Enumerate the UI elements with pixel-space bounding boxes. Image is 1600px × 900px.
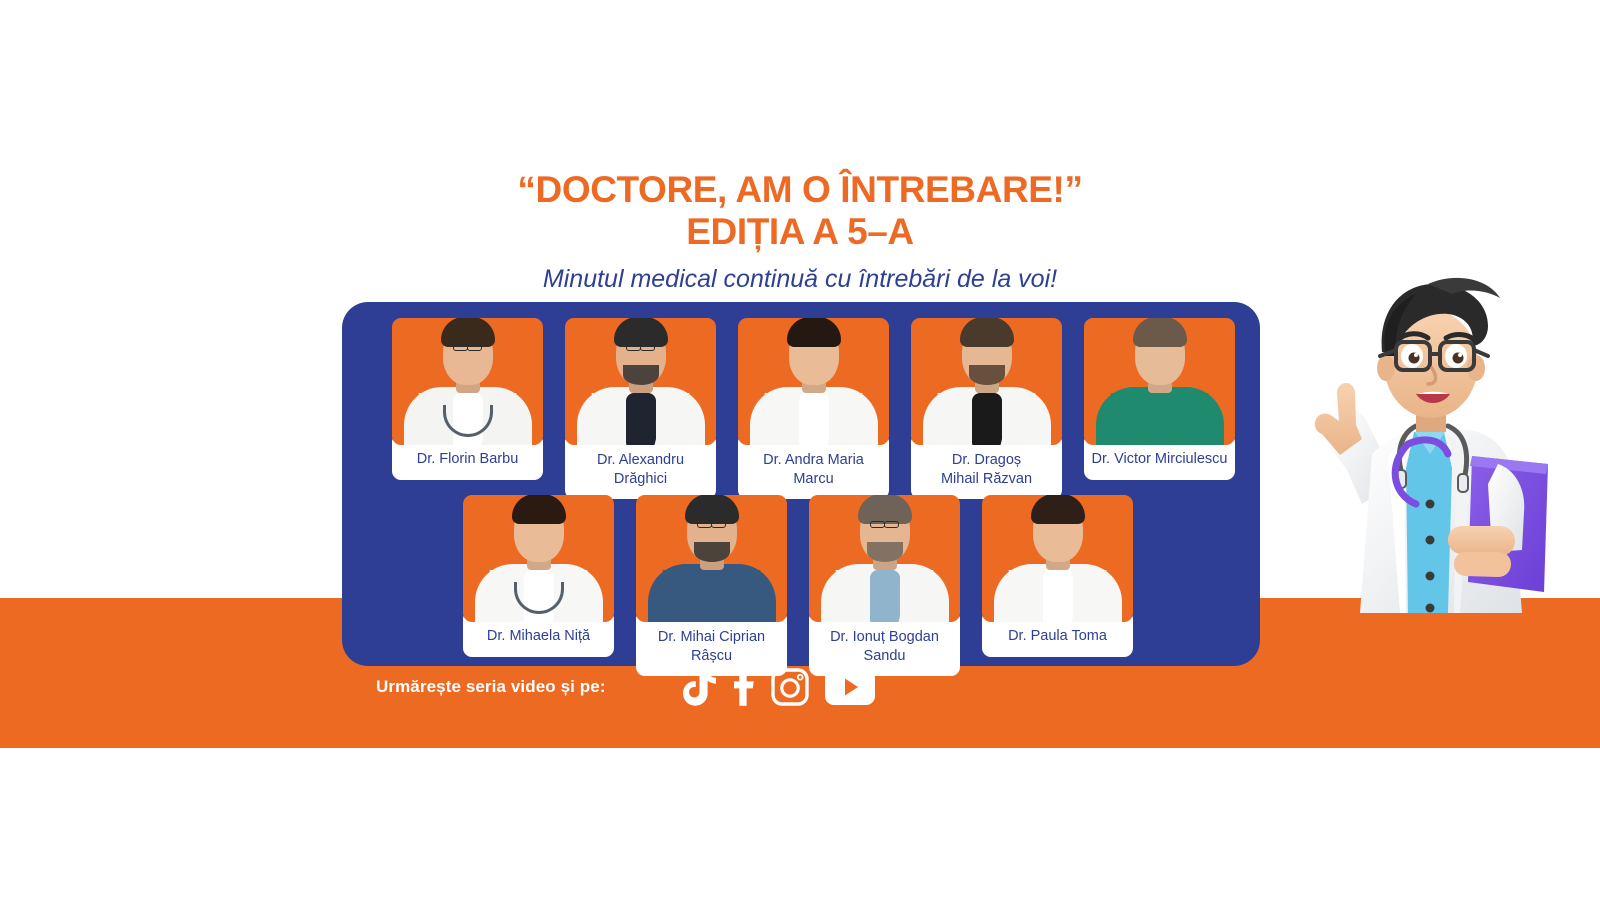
doctor-card[interactable]: Dr. DragoșMihail Răzvan <box>911 318 1062 499</box>
doctor-photo <box>392 318 543 445</box>
page-title-line-1: “DOCTORE, AM O ÎNTREBARE!” <box>0 168 1600 212</box>
doctor-photo <box>463 495 614 622</box>
doctor-name-line: Dr. Mihaela Niță <box>469 627 608 646</box>
doctors-row-bottom: Dr. Mihaela NițăDr. Mihai CiprianRâșcuDr… <box>463 495 1133 676</box>
follow-label: Urmărește seria video și pe: <box>376 677 606 697</box>
doctor-portrait <box>738 318 889 445</box>
doctor-name-line: Dr. Ionuț Bogdan <box>815 628 954 647</box>
doctor-card[interactable]: Dr. Andra MariaMarcu <box>738 318 889 499</box>
promo-banner: “DOCTORE, AM O ÎNTREBARE!” EDIȚIA A 5–A … <box>0 0 1600 900</box>
doctor-photo <box>982 495 1133 622</box>
doctor-name-line: Dr. Alexandru <box>571 451 710 470</box>
doctor-portrait <box>1084 318 1235 445</box>
doctor-card[interactable]: Dr. AlexandruDrăghici <box>565 318 716 499</box>
doctor-card[interactable]: Dr. Ionuț BogdanSandu <box>809 495 960 676</box>
doctor-photo <box>911 318 1062 445</box>
doctor-card[interactable]: Dr. Victor Mirciulescu <box>1084 318 1235 499</box>
doctor-name-line: Dr. Andra Maria <box>744 451 883 470</box>
portrait-glasses-icon <box>624 340 658 351</box>
doctor-name-line: Dr. Dragoș <box>917 451 1056 470</box>
doctor-portrait <box>565 318 716 445</box>
doctor-portrait <box>809 495 960 622</box>
doctor-photo <box>738 318 889 445</box>
doctor-name-line: Dr. Paula Toma <box>988 627 1127 646</box>
doctor-portrait <box>463 495 614 622</box>
doctor-card[interactable]: Dr. Mihai CiprianRâșcu <box>636 495 787 676</box>
doctor-portrait <box>392 318 543 445</box>
doctor-card[interactable]: Dr. Florin Barbu <box>392 318 543 499</box>
doctor-card[interactable]: Dr. Mihaela Niță <box>463 495 614 676</box>
doctor-photo <box>1084 318 1235 445</box>
doctor-name-line: Dr. Victor Mirciulescu <box>1090 450 1229 469</box>
doctors-row-top: Dr. Florin BarbuDr. AlexandruDrăghiciDr.… <box>392 318 1235 499</box>
portrait-glasses-icon <box>451 340 485 351</box>
footer: Urmărește seria video și pe: <box>376 668 875 706</box>
doctor-portrait <box>911 318 1062 445</box>
mascot-doctor-illustration <box>1276 268 1576 613</box>
doctor-photo <box>636 495 787 622</box>
doctor-card[interactable]: Dr. Paula Toma <box>982 495 1133 676</box>
doctor-photo <box>809 495 960 622</box>
doctor-name-line: Sandu <box>815 647 954 666</box>
portrait-glasses-icon <box>695 517 729 528</box>
doctor-name-line: Râșcu <box>642 647 781 666</box>
doctor-photo <box>565 318 716 445</box>
doctor-portrait <box>636 495 787 622</box>
doctors-panel: Dr. Florin BarbuDr. AlexandruDrăghiciDr.… <box>342 302 1260 666</box>
portrait-glasses-icon <box>868 517 902 528</box>
doctor-name-line: Mihail Răzvan <box>917 470 1056 489</box>
doctor-name-line: Drăghici <box>571 470 710 489</box>
page-title-line-2: EDIȚIA A 5–A <box>0 210 1600 254</box>
doctor-name-line: Marcu <box>744 470 883 489</box>
doctor-name-line: Dr. Mihai Ciprian <box>642 628 781 647</box>
doctor-name-line: Dr. Florin Barbu <box>398 450 537 469</box>
doctor-portrait <box>982 495 1133 622</box>
